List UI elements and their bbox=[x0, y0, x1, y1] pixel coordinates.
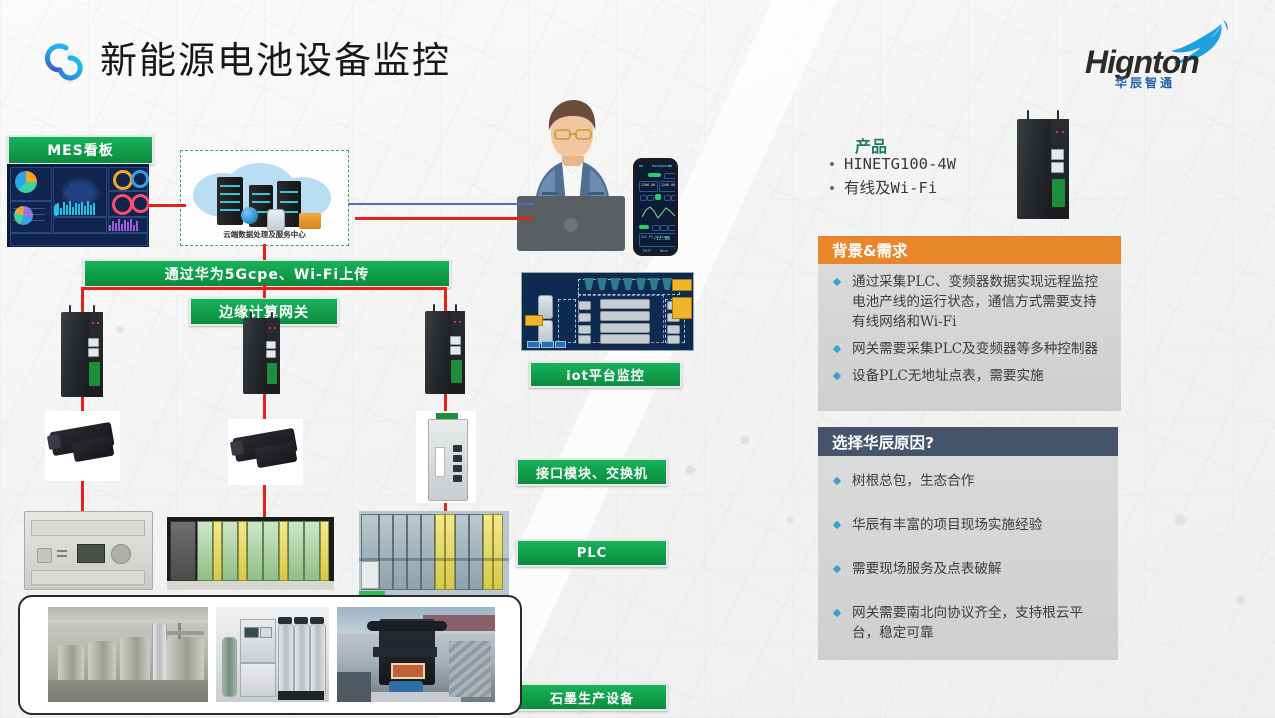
link-cloud-to-laptop-red bbox=[355, 217, 533, 220]
link-cloud-down bbox=[263, 244, 266, 260]
edge-gateway-3-image bbox=[425, 311, 465, 394]
interlocking-circles-logo-icon bbox=[38, 36, 90, 88]
photo-graphitization-furnace bbox=[337, 607, 495, 702]
slide-root: 新能源电池设备监控 Hignton 华辰智通 MES看板 bbox=[0, 0, 1275, 718]
mes-dashboard-image bbox=[7, 164, 149, 247]
panel-background-requirement-header: 背景&需求 bbox=[818, 236, 1121, 264]
reason-bullet-0: 树根总包，生态合作 bbox=[826, 471, 1104, 491]
requirement-bullet-0: 通过采集PLC、变频器数据实现远程监控电池产线的运行状态，通信方式需要支持有线网… bbox=[826, 272, 1107, 332]
panel-why-huachen-body: 树根总包，生态合作 华辰有丰富的项目现场实施经验 需要现场服务及点表破解 网关需… bbox=[818, 471, 1118, 643]
requirement-bullet-0-text: 通过采集PLC、变频器数据实现远程监控电池产线的运行状态，通信方式需要支持有线网… bbox=[852, 274, 1098, 330]
slide-header: 新能源电池设备监控 Hignton 华辰智通 bbox=[0, 0, 1275, 110]
tag-mes[interactable]: MES看板 bbox=[7, 135, 154, 165]
product-list: HINETG100-4W 有线及Wi-Fi bbox=[828, 152, 1028, 200]
plc-rack-2-image bbox=[167, 517, 334, 590]
diamond-bullet-icon bbox=[833, 345, 841, 353]
industrial-switch-image bbox=[416, 411, 476, 503]
diamond-bullet-icon bbox=[833, 477, 841, 485]
diamond-bullet-icon bbox=[833, 372, 841, 380]
product-gateway-image bbox=[1017, 119, 1069, 219]
tag-graphite-equipment[interactable]: 石墨生产设备 bbox=[516, 683, 668, 711]
panel-background-requirement-body: 通过采集PLC、变频器数据实现远程监控电池产线的运行状态，通信方式需要支持有线网… bbox=[818, 272, 1121, 386]
page-title: 新能源电池设备监控 bbox=[100, 36, 451, 85]
requirement-bullet-1: 网关需要采集PLC及变频器等多种控制器 bbox=[826, 339, 1107, 359]
tag-iot-platform[interactable]: iot平台监控 bbox=[529, 361, 682, 388]
photo-reactor-vessels bbox=[48, 607, 208, 702]
engineer-illustration bbox=[515, 96, 630, 208]
requirement-bullet-2: 设备PLC无地址点表，需要实施 bbox=[826, 366, 1107, 386]
link-cloud-to-laptop bbox=[348, 203, 534, 205]
link-mes-to-cloud bbox=[148, 204, 186, 207]
tag-plc[interactable]: PLC bbox=[516, 539, 668, 567]
mobile-dashboard-device: ▮▮ Dashboard ▮▮ 1206.00 1206.00 Set PV V… bbox=[633, 158, 678, 256]
diamond-bullet-icon bbox=[833, 278, 841, 286]
product-item-1: 有线及Wi-Fi bbox=[828, 176, 1028, 200]
tag-interface-switch[interactable]: 接口模块、交换机 bbox=[516, 458, 668, 486]
cloud-caption: 云端数据处理及服务中心 bbox=[181, 229, 348, 240]
product-item-0: HINETG100-4W bbox=[828, 152, 1028, 176]
edge-gateway-1-image bbox=[61, 312, 103, 397]
requirement-bullet-2-text: 设备PLC无地址点表，需要实施 bbox=[852, 368, 1044, 384]
panel-why-huachen: 选择华辰原因? 树根总包，生态合作 华辰有丰富的项目现场实施经验 需要现场服务及… bbox=[818, 427, 1118, 660]
panel-why-huachen-header: 选择华辰原因? bbox=[818, 427, 1118, 456]
diamond-bullet-icon bbox=[833, 609, 841, 617]
reason-bullet-0-text: 树根总包，生态合作 bbox=[852, 473, 974, 489]
diamond-bullet-icon bbox=[833, 565, 841, 573]
interface-module-1-image bbox=[45, 411, 120, 481]
tag-upload[interactable]: 通过华为5Gcpe、Wi-Fi上传 bbox=[83, 259, 451, 288]
interface-module-2-image bbox=[228, 419, 303, 485]
reason-bullet-2: 需要现场服务及点表破解 bbox=[826, 559, 1104, 579]
reason-bullet-2-text: 需要现场服务及点表破解 bbox=[852, 561, 1002, 577]
link-upload-bus bbox=[81, 287, 447, 290]
brand-logo: Hignton 华辰智通 bbox=[1085, 22, 1245, 94]
panel-background-requirement: 背景&需求 通过采集PLC、变频器数据实现远程监控电池产线的运行状态，通信方式需… bbox=[818, 236, 1121, 411]
iot-platform-scada-image bbox=[521, 272, 694, 351]
plc-controller-image bbox=[24, 511, 153, 590]
reason-bullet-3: 网关需要南北向协议齐全，支持根云平台，稳定可靠 bbox=[826, 603, 1104, 643]
reason-bullet-1-text: 华辰有丰富的项目现场实施经验 bbox=[852, 517, 1042, 533]
diamond-bullet-icon bbox=[833, 521, 841, 529]
equipment-photo-frame bbox=[18, 595, 522, 715]
brand-subtitle: 华辰智通 bbox=[1115, 74, 1175, 91]
plc-rack-3-image bbox=[359, 511, 509, 597]
photo-water-treatment-skid bbox=[216, 607, 329, 702]
reason-bullet-3-text: 网关需要南北向协议齐全，支持根云平台，稳定可靠 bbox=[852, 605, 1083, 641]
cloud-datacenter-image: 云端数据处理及服务中心 bbox=[180, 150, 349, 246]
requirement-bullet-1-text: 网关需要采集PLC及变频器等多种控制器 bbox=[852, 341, 1098, 357]
edge-gateway-2-image bbox=[243, 318, 280, 394]
reason-bullet-1: 华辰有丰富的项目现场实施经验 bbox=[826, 515, 1104, 535]
